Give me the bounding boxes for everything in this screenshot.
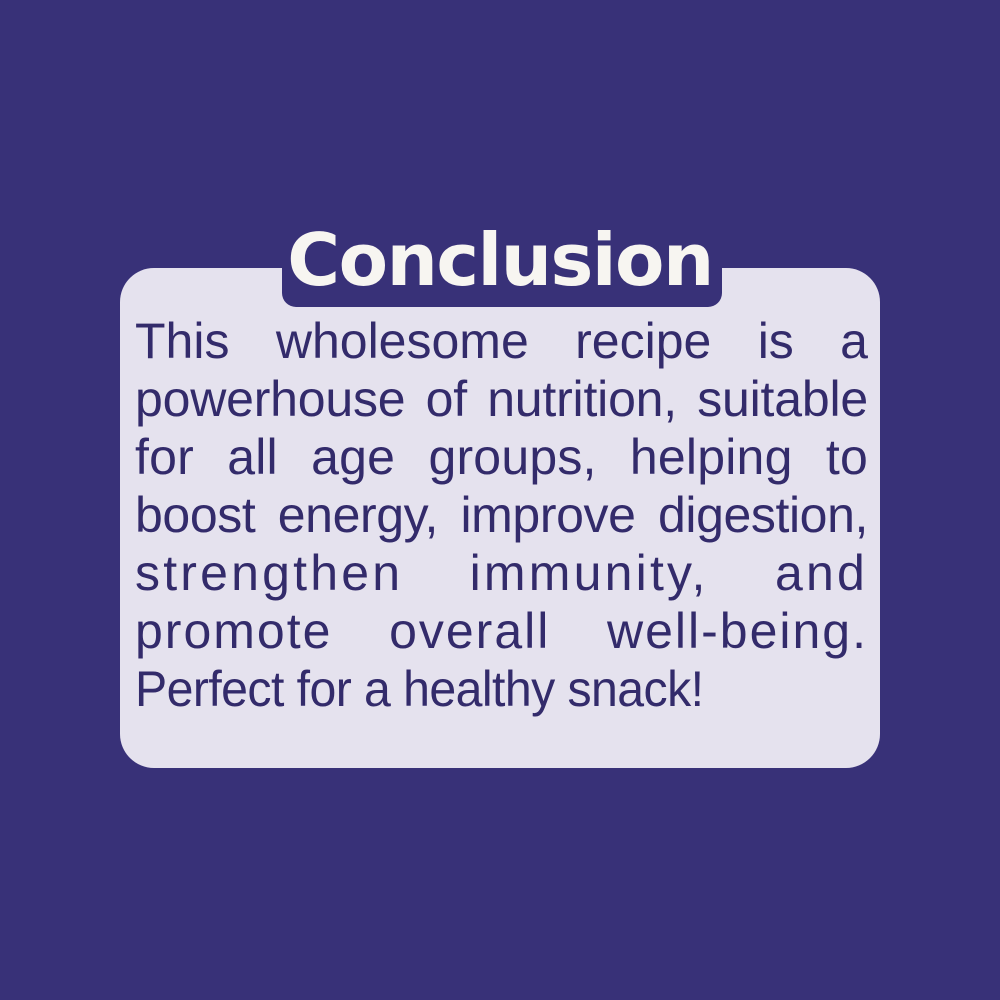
body-word: wholesome bbox=[276, 312, 529, 370]
body-line: forallagegroups,helpingto bbox=[135, 428, 868, 486]
body-word: a bbox=[840, 312, 868, 370]
body-word: Perfect for a healthy snack! bbox=[135, 660, 703, 718]
body-line: promoteoverallwell-being. bbox=[135, 602, 868, 660]
poster-canvas: Conclusion Thiswholesomerecipeisapowerho… bbox=[0, 0, 1000, 1000]
body-line: Perfect for a healthy snack! bbox=[135, 660, 842, 718]
body-word: nutrition, bbox=[487, 370, 677, 428]
body-word: immunity, bbox=[470, 544, 709, 602]
body-word: is bbox=[758, 312, 794, 370]
body-line: powerhouseofnutrition,suitable bbox=[135, 370, 868, 428]
body-line: Thiswholesomerecipeisa bbox=[135, 312, 868, 370]
body-word: groups, bbox=[428, 428, 596, 486]
body-word: suitable bbox=[697, 370, 868, 428]
body-word: energy, bbox=[278, 486, 438, 544]
body-word: overall bbox=[389, 602, 550, 660]
page-title: Conclusion bbox=[0, 221, 1000, 299]
body-word: all bbox=[227, 428, 278, 486]
body-word: boost bbox=[135, 486, 255, 544]
body-word: age bbox=[311, 428, 395, 486]
body-word: for bbox=[135, 428, 194, 486]
body-word: This bbox=[135, 312, 229, 370]
body-word: promote bbox=[135, 602, 332, 660]
body-word: helping bbox=[630, 428, 793, 486]
body-word: and bbox=[775, 544, 868, 602]
body-line: boostenergy,improvedigestion, bbox=[135, 486, 868, 544]
body-word: digestion, bbox=[658, 486, 868, 544]
body-word: to bbox=[826, 428, 868, 486]
body-word: well-being. bbox=[607, 602, 868, 660]
body-word: strengthen bbox=[135, 544, 403, 602]
conclusion-body-text: Thiswholesomerecipeisapowerhouseofnutrit… bbox=[135, 312, 868, 718]
body-line: strengthenimmunity,and bbox=[135, 544, 868, 602]
body-word: improve bbox=[460, 486, 635, 544]
body-word: of bbox=[426, 370, 467, 428]
body-word: powerhouse bbox=[135, 370, 405, 428]
body-word: recipe bbox=[575, 312, 711, 370]
